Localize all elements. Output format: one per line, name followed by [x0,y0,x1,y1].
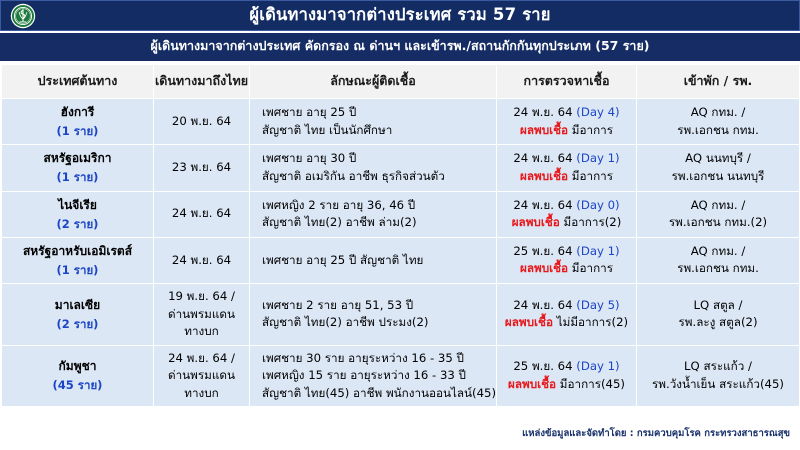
test-result-positive: ผลพบเชื้อ [505,315,553,329]
profile-line: เพศหญิง 15 ราย อายุระหว่าง 16 - 33 ปี [262,367,491,385]
test-date-line: 25 พ.ย. 64 (Day 1) [502,358,631,376]
test-symptom-status: มีอาการ [572,169,613,183]
column-header-stay: เข้าพัก / รพ. [637,65,800,99]
cell-country: กัมพูชา(45 ราย) [2,345,154,407]
test-date: 25 พ.ย. 64 [513,244,572,258]
country-name: ฮังการี [7,103,148,121]
table-body: ฮังการี(1 ราย)20 พ.ย. 64เพศชาย อายุ 25 ป… [2,99,800,407]
cell-case-profile: เพศชาย 30 ราย อายุระหว่าง 16 - 35 ปีเพศห… [250,345,497,407]
country-case-count: (2 ราย) [7,316,148,333]
report-page: ผู้เดินทางมาจากต่างประเทศ รวม 57 ราย ผู้… [0,0,800,450]
test-day-tag: (Day 4) [576,105,619,119]
test-result-line: ผลพบเชื้อ มีอาการ(45) [502,376,631,394]
test-result-line: ผลพบเชื้อ ไม่มีอาการ(2) [502,314,631,332]
test-symptom-status: มีอาการ(2) [564,215,622,229]
cell-country: ไนจีเรีย(2 ราย) [2,191,154,237]
cell-case-profile: เพศชาย อายุ 30 ปีสัญชาติ อเมริกัน อาชีพ … [250,145,497,191]
stay-line: รพ.วังน้ำเย็น สระแก้ว(45) [642,376,794,394]
profile-line: สัญชาติ ไทย(2) อาชีพ ล่าม(2) [262,214,491,232]
test-result-line: ผลพบเชื้อ มีอาการ [502,122,631,140]
cell-case-profile: เพศชาย อายุ 25 ปีสัญชาติ ไทย เป็นนักศึกษ… [250,99,497,145]
test-date-line: 24 พ.ย. 64 (Day 4) [502,104,631,122]
table-row: สหรัฐอาหรับเอมิเรตส์(1 ราย)24 พ.ย. 64เพศ… [2,237,800,283]
cell-test-result: 24 พ.ย. 64 (Day 0)ผลพบเชื้อ มีอาการ(2) [497,191,637,237]
stay-line: รพ.เอกชน กทม. [642,260,794,278]
column-header-test: การตรวจหาเชื้อ [497,65,637,99]
profile-line: เพศชาย 2 ราย อายุ 51, 53 ปี [262,297,491,315]
title-bar: ผู้เดินทางมาจากต่างประเทศ รวม 57 ราย [0,0,800,31]
test-day-tag: (Day 5) [576,298,619,312]
arrival-line: ด่านพรมแดนทางบก [159,306,244,341]
profile-line: เพศชาย อายุ 30 ปี [262,150,491,168]
country-name: มาเลเซีย [7,296,148,314]
country-case-count: (45 ราย) [7,377,148,394]
stay-line: รพ.เอกชน นนทบุรี [642,168,794,186]
stay-line: รพ.ละงู สตูล(2) [642,314,794,332]
cell-arrival-date: 23 พ.ย. 64 [154,145,250,191]
table-row: มาเลเซีย(2 ราย)19 พ.ย. 64 /ด่านพรมแดนทาง… [2,284,800,346]
stay-line: AQ กทม. / [642,243,794,261]
table-row: ฮังการี(1 ราย)20 พ.ย. 64เพศชาย อายุ 25 ป… [2,99,800,145]
test-result-positive: ผลพบเชื้อ [520,261,568,275]
arrival-line: ด่านพรมแดนทางบก [159,367,244,402]
table-container: ประเทศต้นทาง เดินทางมาถึงไทย ลักษณะผู้ติ… [0,64,800,407]
table-row: สหรัฐอเมริกา(1 ราย)23 พ.ย. 64เพศชาย อายุ… [2,145,800,191]
stay-line: LQ สตูล / [642,297,794,315]
table-row: ไนจีเรีย(2 ราย)24 พ.ย. 64เพศหญิง 2 ราย อ… [2,191,800,237]
stay-line: รพ.เอกชน กทม. [642,122,794,140]
profile-line: เพศชาย อายุ 25 ปี [262,104,491,122]
test-result-line: ผลพบเชื้อ มีอาการ [502,168,631,186]
test-symptom-status: ไม่มีอาการ(2) [557,315,628,329]
cell-arrival-date: 24 พ.ย. 64 /ด่านพรมแดนทางบก [154,345,250,407]
profile-line: เพศหญิง 2 ราย อายุ 36, 46 ปี [262,197,491,215]
stay-line: AQ นนทบุรี / [642,150,794,168]
test-date-line: 24 พ.ย. 64 (Day 0) [502,197,631,215]
profile-line: เพศชาย อายุ 25 ปี สัญชาติ ไทย [262,252,491,270]
test-result-positive: ผลพบเชื้อ [508,377,556,391]
arrival-line: 20 พ.ย. 64 [159,113,244,131]
test-date: 24 พ.ย. 64 [513,105,572,119]
test-date: 24 พ.ย. 64 [513,151,572,165]
arrival-line: 24 พ.ย. 64 [159,252,244,270]
cell-test-result: 24 พ.ย. 64 (Day 4)ผลพบเชื้อ มีอาการ [497,99,637,145]
test-day-tag: (Day 1) [576,244,619,258]
stay-line: รพ.เอกชน กทม.(2) [642,214,794,232]
country-name: กัมพูชา [7,357,148,375]
arrival-line: 19 พ.ย. 64 / [159,288,244,306]
source-attribution: แหล่งข้อมูลและจัดทำโดย : กรมควบคุมโรค กร… [522,429,790,439]
table-header-row: ประเทศต้นทาง เดินทางมาถึงไทย ลักษณะผู้ติ… [2,65,800,99]
column-header-country: ประเทศต้นทาง [2,65,154,99]
arrivals-table: ประเทศต้นทาง เดินทางมาถึงไทย ลักษณะผู้ติ… [1,64,800,407]
test-symptom-status: มีอาการ [572,261,613,275]
stay-line: AQ กทม. / [642,197,794,215]
cell-case-profile: เพศชาย 2 ราย อายุ 51, 53 ปีสัญชาติ ไทย(2… [250,284,497,346]
subtitle-bar: ผู้เดินทางมาจากต่างประเทศ คัดกรอง ณ ด่าน… [0,33,800,61]
test-date-line: 24 พ.ย. 64 (Day 5) [502,297,631,315]
test-day-tag: (Day 0) [576,198,619,212]
country-case-count: (2 ราย) [7,216,148,233]
column-header-arrival: เดินทางมาถึงไทย [154,65,250,99]
cell-case-profile: เพศหญิง 2 ราย อายุ 36, 46 ปีสัญชาติ ไทย(… [250,191,497,237]
stay-line: LQ สระแก้ว / [642,358,794,376]
test-day-tag: (Day 1) [576,359,619,373]
test-symptom-status: มีอาการ(45) [560,377,625,391]
profile-line: สัญชาติ ไทย(2) อาชีพ ประมง(2) [262,314,491,332]
test-date-line: 25 พ.ย. 64 (Day 1) [502,243,631,261]
cell-test-result: 25 พ.ย. 64 (Day 1)ผลพบเชื้อ มีอาการ [497,237,637,283]
cell-quarantine-hospital: AQ นนทบุรี /รพ.เอกชน นนทบุรี [637,145,800,191]
test-symptom-status: มีอาการ [572,123,613,137]
arrival-line: 24 พ.ย. 64 [159,205,244,223]
subtitle-text: ผู้เดินทางมาจากต่างประเทศ คัดกรอง ณ ด่าน… [151,40,650,54]
country-case-count: (1 ราย) [7,262,148,279]
profile-line: สัญชาติ ไทย(45) อาชีพ พนักงานออนไลน์(45) [262,385,491,403]
cell-arrival-date: 24 พ.ย. 64 [154,191,250,237]
profile-line: สัญชาติ อเมริกัน อาชีพ ธุรกิจส่วนตัว [262,168,491,186]
cell-country: ฮังการี(1 ราย) [2,99,154,145]
cell-arrival-date: 24 พ.ย. 64 [154,237,250,283]
test-date: 24 พ.ย. 64 [513,298,572,312]
test-result-positive: ผลพบเชื้อ [512,215,560,229]
cell-test-result: 24 พ.ย. 64 (Day 1)ผลพบเชื้อ มีอาการ [497,145,637,191]
profile-line: สัญชาติ ไทย เป็นนักศึกษา [262,122,491,140]
profile-line: เพศชาย 30 ราย อายุระหว่าง 16 - 35 ปี [262,350,491,368]
country-name: สหรัฐอาหรับเอมิเรตส์ [7,242,148,260]
cell-country: สหรัฐอาหรับเอมิเรตส์(1 ราย) [2,237,154,283]
stay-line: AQ กทม. / [642,104,794,122]
test-day-tag: (Day 1) [576,151,619,165]
cell-quarantine-hospital: AQ กทม. /รพ.เอกชน กทม.(2) [637,191,800,237]
cell-case-profile: เพศชาย อายุ 25 ปี สัญชาติ ไทย [250,237,497,283]
cell-quarantine-hospital: LQ สระแก้ว /รพ.วังน้ำเย็น สระแก้ว(45) [637,345,800,407]
cell-test-result: 24 พ.ย. 64 (Day 5)ผลพบเชื้อ ไม่มีอาการ(2… [497,284,637,346]
table-header: ประเทศต้นทาง เดินทางมาถึงไทย ลักษณะผู้ติ… [2,65,800,99]
cell-arrival-date: 20 พ.ย. 64 [154,99,250,145]
arrival-line: 24 พ.ย. 64 / [159,350,244,368]
column-header-profile: ลักษณะผู้ติดเชื้อ [250,65,497,99]
arrival-line: 23 พ.ย. 64 [159,159,244,177]
test-date: 25 พ.ย. 64 [513,359,572,373]
test-date-line: 24 พ.ย. 64 (Day 1) [502,150,631,168]
country-name: ไนจีเรีย [7,196,148,214]
test-result-positive: ผลพบเชื้อ [520,169,568,183]
cell-quarantine-hospital: AQ กทม. /รพ.เอกชน กทม. [637,99,800,145]
cell-quarantine-hospital: AQ กทม. /รพ.เอกชน กทม. [637,237,800,283]
test-date: 24 พ.ย. 64 [513,198,572,212]
test-result-positive: ผลพบเชื้อ [520,123,568,137]
moph-seal-icon [10,3,36,29]
test-result-line: ผลพบเชื้อ มีอาการ [502,260,631,278]
country-case-count: (1 ราย) [7,123,148,140]
cell-arrival-date: 19 พ.ย. 64 /ด่านพรมแดนทางบก [154,284,250,346]
cell-test-result: 25 พ.ย. 64 (Day 1)ผลพบเชื้อ มีอาการ(45) [497,345,637,407]
test-result-line: ผลพบเชื้อ มีอาการ(2) [502,214,631,232]
page-title: ผู้เดินทางมาจากต่างประเทศ รวม 57 ราย [249,7,550,25]
cell-quarantine-hospital: LQ สตูล /รพ.ละงู สตูล(2) [637,284,800,346]
country-case-count: (1 ราย) [7,169,148,186]
cell-country: สหรัฐอเมริกา(1 ราย) [2,145,154,191]
cell-country: มาเลเซีย(2 ราย) [2,284,154,346]
country-name: สหรัฐอเมริกา [7,149,148,167]
table-row: กัมพูชา(45 ราย)24 พ.ย. 64 /ด่านพรมแดนทาง… [2,345,800,407]
